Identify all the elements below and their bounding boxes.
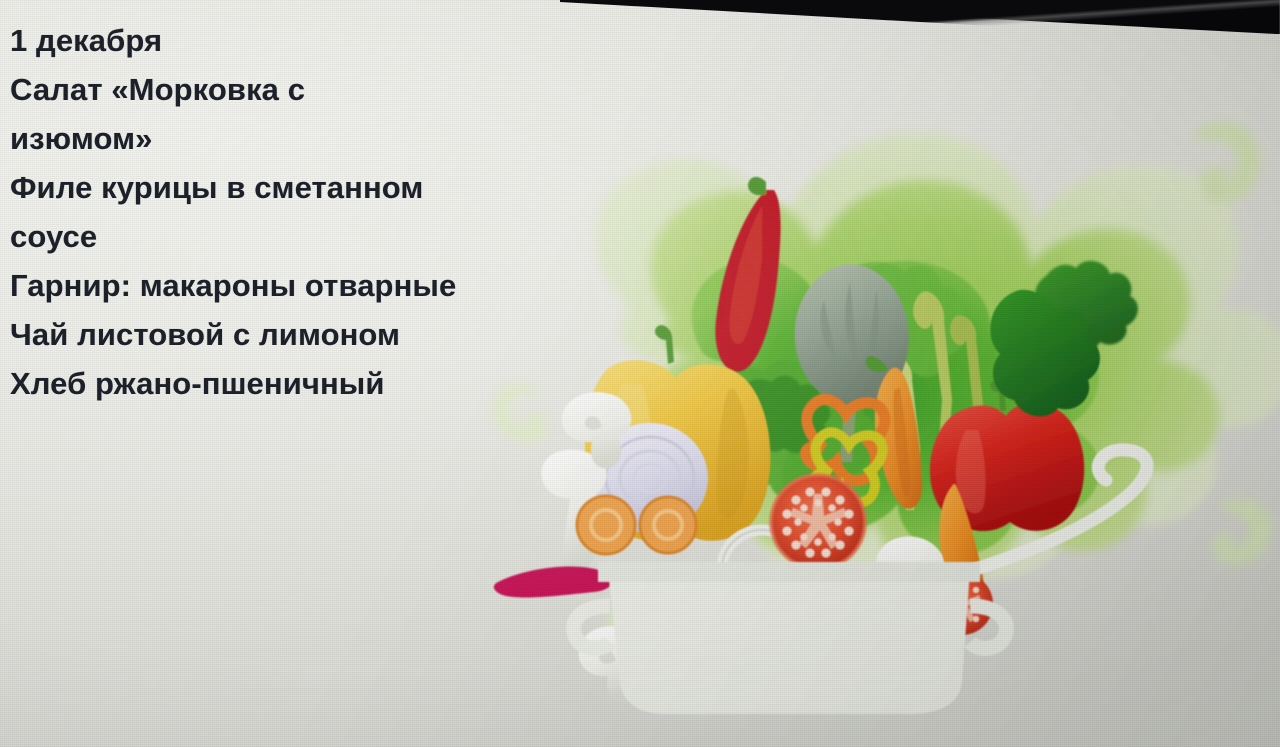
tomato-slice-icon xyxy=(771,475,865,569)
presentation-slide: 1 декабря Салат «Морковка с изюмом» Филе… xyxy=(0,0,1280,747)
monitor-photo: 1 декабря Салат «Морковка с изюмом» Филе… xyxy=(0,0,1280,747)
menu-line-salad-1: Салат «Морковка с xyxy=(10,65,530,114)
menu-text-block: 1 декабря Салат «Морковка с изюмом» Филе… xyxy=(10,16,530,408)
magenta-pepper-strip-icon xyxy=(494,567,612,598)
pot-icon xyxy=(574,562,1007,714)
menu-line-date: 1 декабря xyxy=(10,16,530,65)
menu-line-drink: Чай листовой с лимоном xyxy=(10,310,530,359)
menu-line-bread: Хлеб ржано-пшеничный xyxy=(10,359,530,408)
menu-line-side: Гарнир: макароны отварные xyxy=(10,261,530,310)
menu-line-main-1: Филе курицы в сметанном xyxy=(10,163,530,212)
menu-line-main-2: соусе xyxy=(10,212,530,261)
menu-line-salad-2: изюмом» xyxy=(10,114,530,163)
